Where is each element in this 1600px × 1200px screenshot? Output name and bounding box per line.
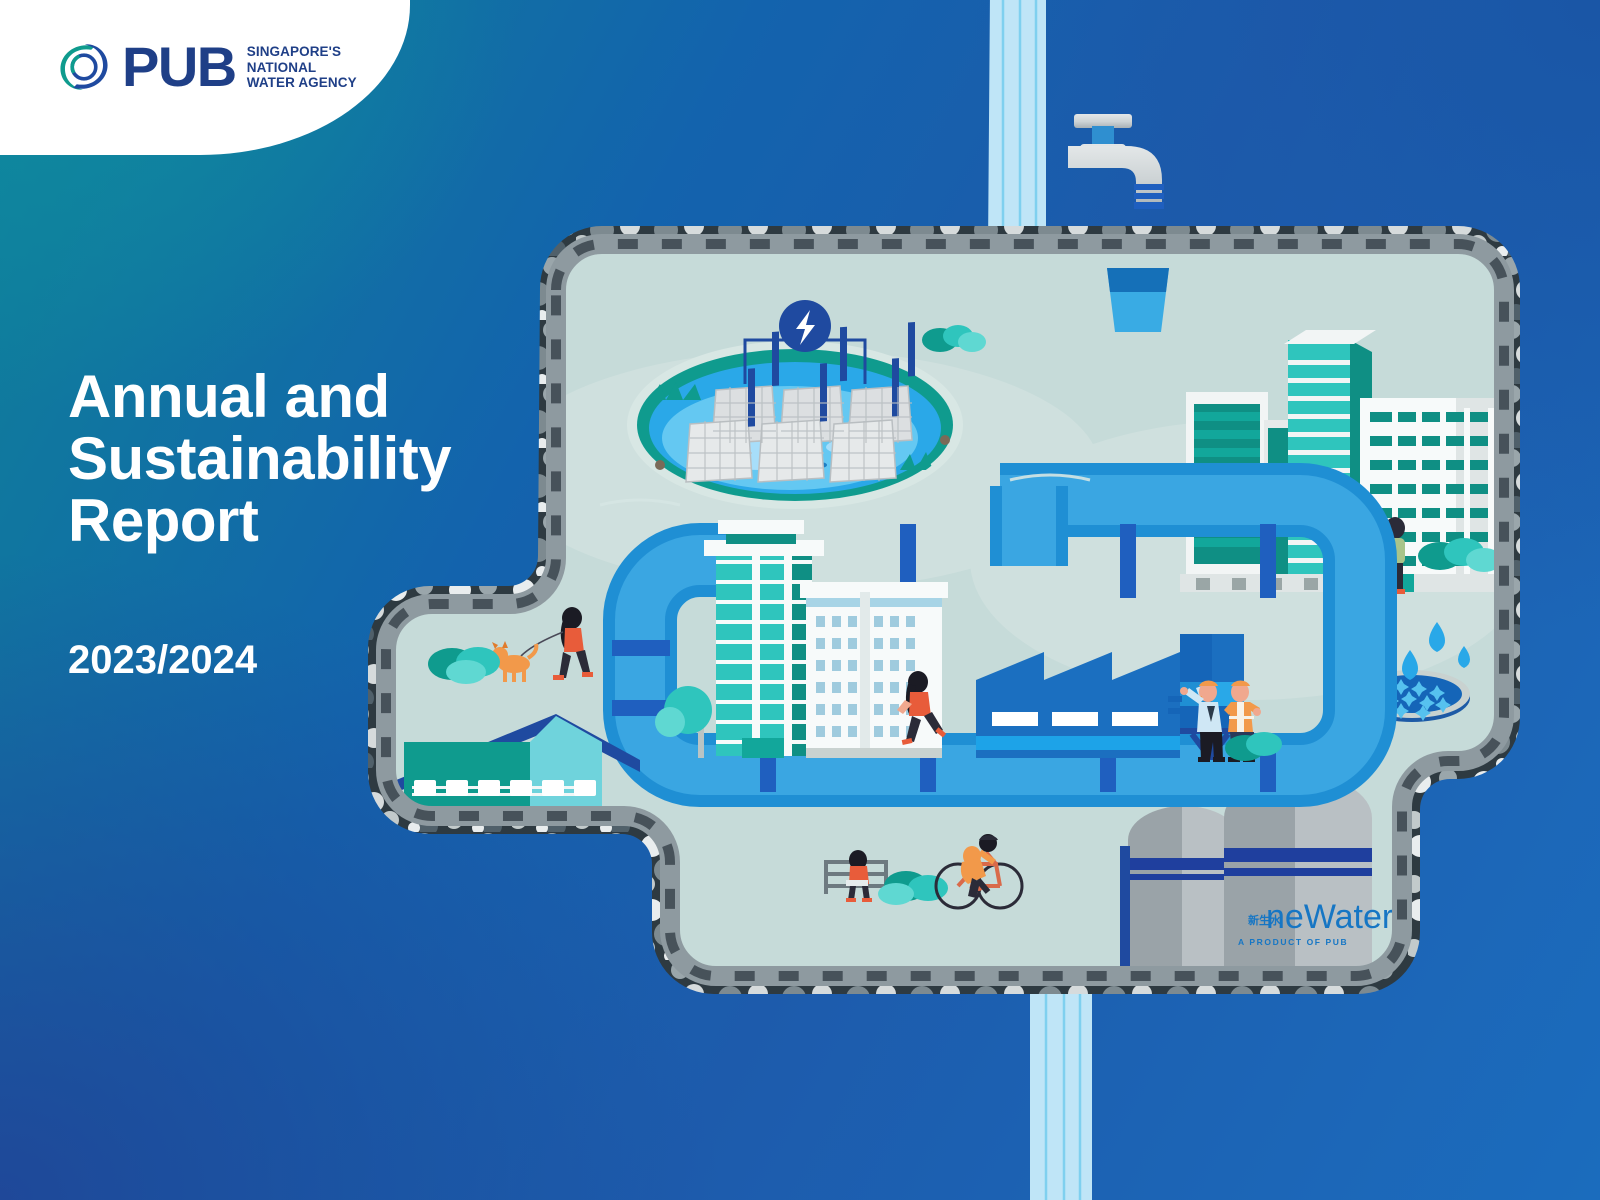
pub-tagline: SINGAPORE'S NATIONAL WATER AGENCY [247,44,357,90]
title-line-2: Sustainability [68,428,628,490]
newater-wordmark: neWater [1266,898,1393,936]
newater-tagline: A PRODUCT OF PUB [1238,937,1348,947]
water-loop-city-illustration: 新生水 neWater A PRODUCT OF PUB [0,0,1600,1200]
tap-faucet [1068,114,1164,209]
pub-tagline-line-2: NATIONAL [247,60,357,75]
pub-tagline-line-1: SINGAPORE'S [247,44,357,59]
drinking-glass [1107,268,1169,332]
pub-wordmark: PUB [122,40,236,93]
pub-tagline-line-3: WATER AGENCY [247,75,357,90]
pub-swirl-icon [55,38,113,96]
page-title: Annual and Sustainability Report [68,366,628,551]
title-line-3: Report [68,490,628,552]
report-cover: 新生水 neWater A PRODUCT OF PUB [0,0,1600,1200]
energy-bolt-badge [779,300,831,352]
title-line-1: Annual and [68,366,628,428]
pub-logo: PUB SINGAPORE'S NATIONAL WATER AGENCY [55,38,357,96]
report-year: 2023/2024 [68,638,257,683]
